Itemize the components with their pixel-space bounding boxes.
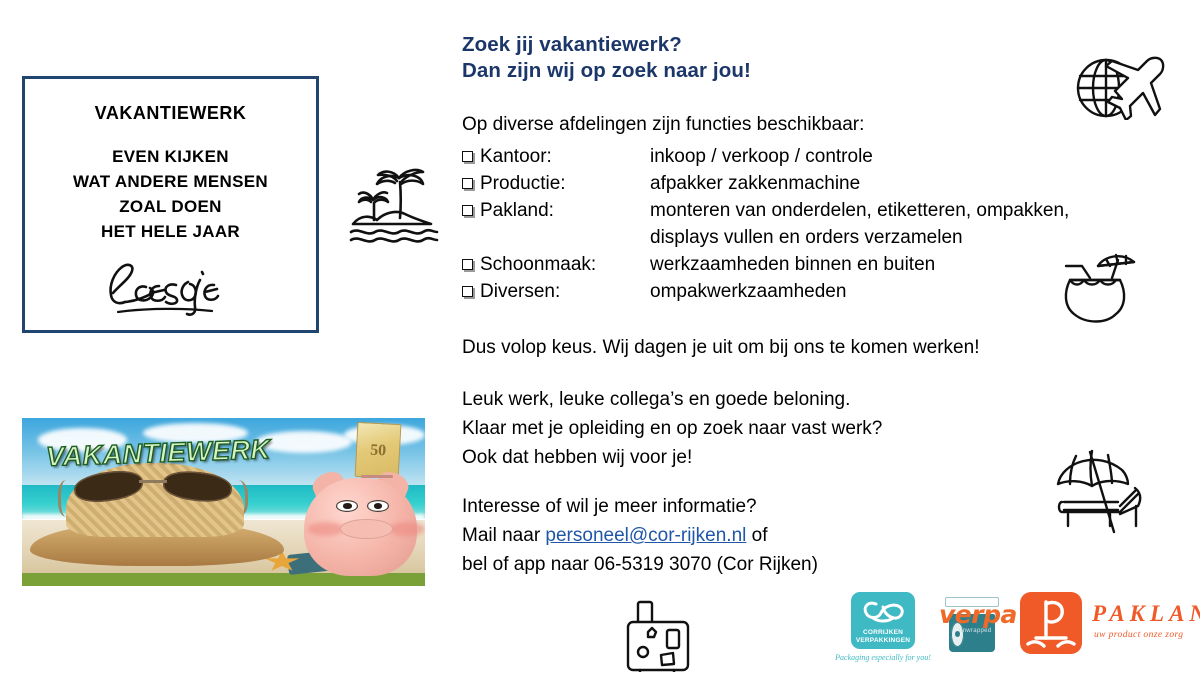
contact-mail-prefix: Mail naar [462,525,545,546]
poster-page: VAKANTIEWERK EVEN KIJKEN WAT ANDERE MENS… [0,0,1200,675]
partner-logos: CORRIJKEN VERPAKKINGEN Packaging especia… [835,592,1190,667]
list-item: Pakland: monteren van onderdelen, etiket… [462,197,1082,251]
job-description: ompakwerkzaamheden [650,278,1082,305]
headline-line-2: Dan zijn wij op zoek naar jou! [462,58,1062,84]
coconut-drink-icon [1040,248,1148,333]
photo-pig-cheek [389,522,425,535]
corrijken-tile: CORRIJKEN VERPAKKINGEN [851,592,915,649]
logo-pakland: PAKLAND uw product onze zorg [1020,592,1195,656]
paragraph-leuk: Leuk werk, leuke collega’s en goede belo… [462,385,1102,472]
photo-pig-coin-slot [361,475,393,478]
list-item: Kantoor: inkoop / verkoop / controle [462,143,1082,170]
contact-mail-suffix: of [746,525,767,546]
corrijken-tagline: Packaging especially for you! [835,653,931,662]
photo-pig-eye [367,500,389,512]
paragraph-leuk-line-2: Klaar met je opleiding en op zoek naar v… [462,414,1102,443]
job-description: inkoop / verkoop / controle [650,143,1082,170]
checkbox-icon [462,251,480,278]
contact-question: Interesse of wil je meer informatie? [462,492,1102,521]
photo-pig-cheek [308,522,344,535]
logo-verpa: unwrapped verpa [933,592,1011,656]
job-label: Diversen: [480,278,650,305]
suitcase-icon [612,586,708,677]
job-description-line-2: displays vullen en orders verzamelen [650,224,1082,251]
job-label: Schoonmaak: [480,251,650,278]
checkbox-icon [462,278,480,305]
loesje-signature [29,254,312,324]
loesje-line-1: EVEN KIJKEN [29,144,312,169]
loesje-line-4: HET HELE JAAR [29,219,312,244]
checkbox-icon [462,197,480,224]
checkbox-icon [462,170,480,197]
photo-pig-snout [340,519,392,539]
list-item: Diversen: ompakwerkzaamheden [462,278,1082,305]
paragraph-keus: Dus volop keus. Wij dagen je uit om bij … [462,333,1102,362]
logo-corrijken: CORRIJKEN VERPAKKINGEN Packaging especia… [835,592,931,662]
loesje-line-3: ZOAL DOEN [29,194,312,219]
loesje-poster: VAKANTIEWERK EVEN KIJKEN WAT ANDERE MENS… [22,76,319,333]
pakland-tile [1020,592,1082,654]
loesje-poster-body: EVEN KIJKEN WAT ANDERE MENSEN ZOAL DOEN … [29,144,312,244]
job-list: Kantoor: inkoop / verkoop / controle Pro… [462,143,1082,305]
verpa-name: verpa [939,600,1017,629]
email-link[interactable]: personeel@cor-rijken.nl [545,525,746,546]
list-item: Schoonmaak: werkzaamheden binnen en buit… [462,251,1082,278]
job-description: afpakker zakkenmachine [650,170,1082,197]
pakland-tagline: uw product onze zorg [1094,630,1183,640]
photo-banknote: 50 [355,422,402,480]
intro-text: Op diverse afdelingen zijn functies besc… [462,114,864,136]
corrijken-name-line-2: VERPAKKINGEN [851,637,915,645]
paragraph-contact: Interesse of wil je meer informatie? Mai… [462,492,1102,579]
job-description: monteren van onderdelen, etiketteren, om… [650,197,1082,251]
beach-photo: 50 VAKANTIEWERK [22,418,425,586]
page-title: Zoek jij vakantiewerk? Dan zijn wij op z… [462,32,1062,84]
photo-sunglasses-bridge [139,480,167,483]
contact-phone-line: bel of app naar 06-5319 3070 (Cor Rijken… [462,550,1102,579]
checkbox-icon [462,143,480,170]
palm-island-icon [343,156,447,253]
headline-line-1: Zoek jij vakantiewerk? [462,32,1062,58]
corrijken-name: CORRIJKEN VERPAKKINGEN [851,629,915,644]
job-label: Productie: [480,170,650,197]
list-item: Productie: afpakker zakkenmachine [462,170,1082,197]
pakland-name: PAKLAND [1092,601,1200,627]
globe-airplane-icon [1062,44,1168,125]
job-label: Pakland: [480,197,650,224]
paragraph-leuk-line-3: Ook dat hebben wij voor je! [462,443,1102,472]
loesje-poster-title: VAKANTIEWERK [29,103,312,124]
job-description: werkzaamheden binnen en buiten [650,251,1082,278]
job-label: Kantoor: [480,143,650,170]
paragraph-leuk-line-1: Leuk werk, leuke collega’s en goede belo… [462,385,1102,414]
job-description-line-1: monteren van onderdelen, etiketteren, om… [650,200,1069,221]
contact-mail-line: Mail naar personeel@cor-rijken.nl of [462,521,1102,550]
loesje-line-2: WAT ANDERE MENSEN [29,169,312,194]
corrijken-name-line-1: CORRIJKEN [851,629,915,637]
beach-umbrella-chair-icon [1040,440,1156,543]
